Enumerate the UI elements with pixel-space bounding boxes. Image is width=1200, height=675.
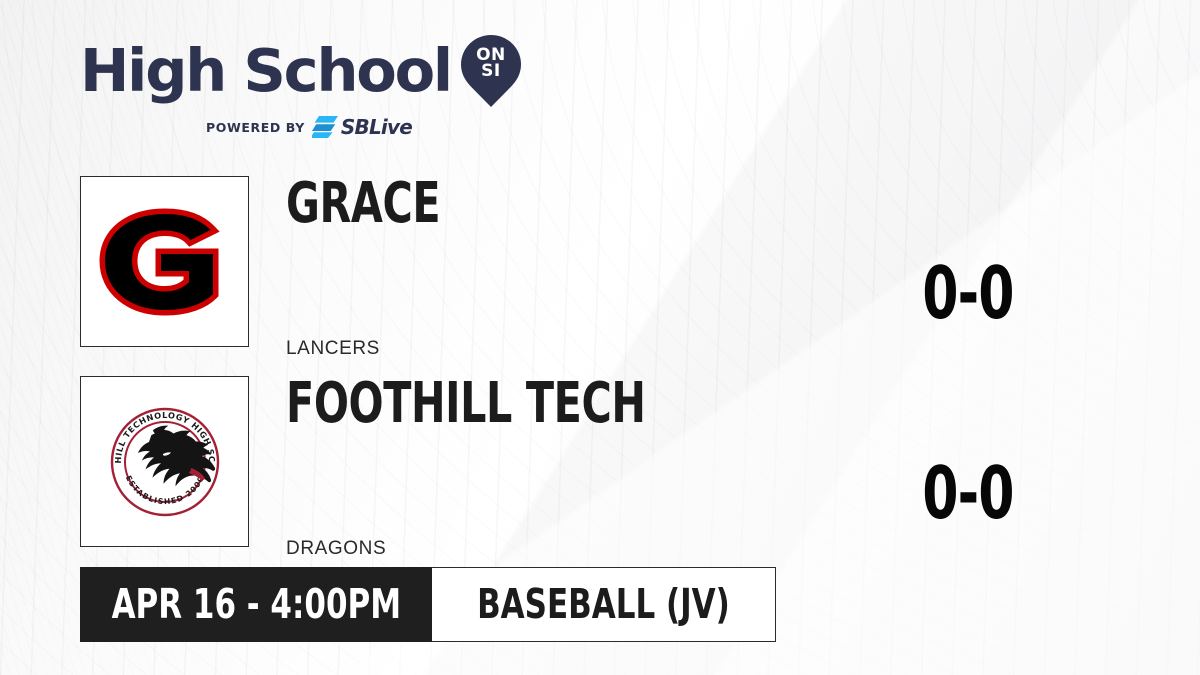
team-logo-box-foothill-tech: FOOTHILL TECHNOLOGY HIGH SCHOOL ESTABLIS… — [80, 376, 249, 547]
event-datetime-panel: APR 16 - 4:00PM — [80, 567, 432, 642]
event-datetime-label: APR 16 - 4:00PM — [111, 584, 400, 625]
sblive-logo: SBLive — [312, 116, 412, 138]
brand-title-row: High School ON SI — [80, 33, 521, 107]
sblive-bolt-icon — [312, 116, 338, 138]
foothill-tech-dragon-crest-icon: FOOTHILL TECHNOLOGY HIGH SCHOOL ESTABLIS… — [105, 402, 225, 522]
team-record-grace: 0-0 — [872, 257, 1064, 329]
team-logo-box-grace — [80, 176, 249, 347]
team-mascot-dragons: DRAGONS — [286, 538, 386, 560]
pin-line-si: SI — [461, 63, 521, 79]
grace-g-logo-icon — [99, 208, 231, 316]
on-si-pin-icon: ON SI — [461, 35, 521, 107]
event-info-bar: APR 16 - 4:00PM BASEBALL (JV) — [80, 567, 776, 642]
event-sport-label: BASEBALL (JV) — [477, 584, 730, 625]
event-sport-panel: BASEBALL (JV) — [432, 567, 776, 642]
brand-header: High School ON SI POWERED BY SBLive — [80, 33, 521, 138]
powered-by-row: POWERED BY SBLive — [206, 116, 412, 138]
on-si-pin-label: ON SI — [461, 47, 521, 79]
powered-by-label: POWERED BY — [206, 120, 305, 135]
team-record-foothill-tech: 0-0 — [872, 457, 1064, 529]
matchup-graphic: High School ON SI POWERED BY SBLive — [0, 0, 1200, 675]
team-mascot-lancers: LANCERS — [286, 338, 380, 360]
team-name-foothill-tech: FOOTHILL TECH — [286, 376, 646, 432]
team-name-grace: GRACE — [286, 176, 440, 232]
sblive-wordmark: SBLive — [341, 117, 412, 137]
brand-title: High School — [80, 41, 451, 100]
